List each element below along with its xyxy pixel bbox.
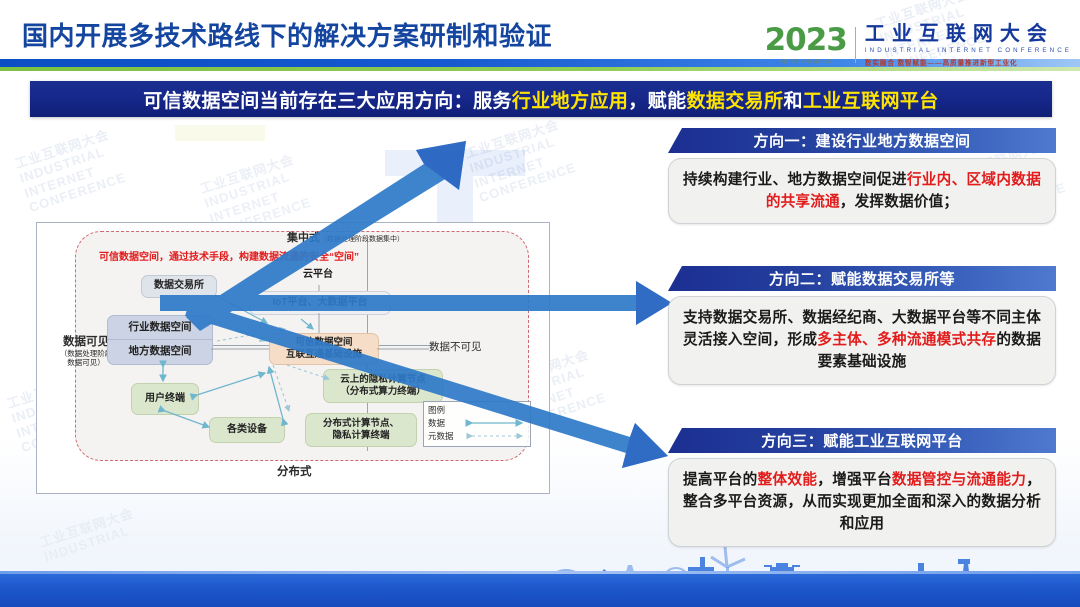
logo-year-block: 2023 中国·苏州 9月14日-18日 xyxy=(765,25,855,65)
direction-2-title: 方向二：赋能数据交易所等 xyxy=(668,266,1056,291)
diagram-connectors xyxy=(37,223,549,493)
direction-1-text: 持续构建行业、地方数据空间促进行业内、区域内数据的共享流通，发挥数据价值； xyxy=(683,169,1041,213)
logo-cn-name: 工业互联网大会 xyxy=(865,24,1072,44)
direction-2-body: 支持数据交易所、数据经纪商、大数据平台等不同主体灵活接入空间，形成多主体、多种流… xyxy=(668,296,1056,385)
direction-2-text: 支持数据交易所、数据经纪商、大数据平台等不同主体灵活接入空间，形成多主体、多种流… xyxy=(683,307,1041,374)
headline-part1: 可信数据空间当前存在三大应用方向：服务 xyxy=(143,91,512,112)
headline-part2: ，赋能 xyxy=(628,91,686,112)
logo-slogan: 数实融合 数智赋能——高质量推进新型工业化 xyxy=(865,57,1072,67)
architecture-diagram: 集中式（数据处理阶段数据集中） 可信数据空间，通过技术手段，构建数据流通的安全“… xyxy=(36,222,550,494)
direction-1-run-2: ，发挥数据价值； xyxy=(840,194,958,210)
direction-3-text: 提高平台的整体效能，增强平台数据管控与流通能力，整合多平台资源，从而实现更加全面… xyxy=(683,469,1041,536)
direction-1-body: 持续构建行业、地方数据空间促进行业内、区域内数据的共享流通，发挥数据价值； xyxy=(668,158,1056,224)
headline-highlight-3: 工业互联网平台 xyxy=(803,91,939,112)
conference-logo: 2023 中国·苏州 9月14日-18日 工业互联网大会 INDUSTRIAL … xyxy=(765,22,1072,68)
footer-skyline xyxy=(0,541,1080,607)
logo-en-name: INDUSTRIAL INTERNET CONFERENCE xyxy=(865,47,1072,54)
direction-3-run-1: 整体效能 xyxy=(758,472,818,488)
footer-blue-band xyxy=(0,571,1080,607)
direction-3-run-2: ，增强平台 xyxy=(817,472,892,488)
headline-highlight-2: 数据交易所 xyxy=(686,91,783,112)
direction-panel-2: 方向二：赋能数据交易所等 支持数据交易所、数据经纪商、大数据平台等不同主体灵活接… xyxy=(668,266,1056,385)
direction-3-body: 提高平台的整体效能，增强平台数据管控与流通能力，整合多平台资源，从而实现更加全面… xyxy=(668,458,1056,547)
direction-panel-3: 方向三：赋能工业互联网平台 提高平台的整体效能，增强平台数据管控与流通能力，整合… xyxy=(668,428,1056,547)
headline-part3: 和 xyxy=(784,91,803,112)
direction-3-run-0: 提高平台的 xyxy=(683,472,758,488)
headline-bar: 可信数据空间当前存在三大应用方向：服务行业地方应用，赋能数据交易所和工业互联网平… xyxy=(30,81,1052,117)
direction-2-run-1: 多主体、多种流通模式共存 xyxy=(817,332,996,348)
diagram-inner: 集中式（数据处理阶段数据集中） 可信数据空间，通过技术手段，构建数据流通的安全“… xyxy=(37,223,549,493)
slide-canvas: 工业互联网大会 INDUSTRIAL INTERNET CONFERENCE 工… xyxy=(0,0,1080,607)
page-title: 国内开展多技术路线下的解决方案研制和验证 xyxy=(22,16,552,53)
headline-text: 可信数据空间当前存在三大应用方向：服务行业地方应用，赋能数据交易所和工业互联网平… xyxy=(143,86,938,113)
logo-year-sub: 中国·苏州 9月14日-18日 xyxy=(779,59,833,65)
direction-3-run-3: 数据管控与流通能力 xyxy=(892,472,1026,488)
direction-1-title: 方向一：建设行业地方数据空间 xyxy=(668,128,1056,153)
logo-year: 2023 xyxy=(765,25,847,56)
direction-3-title: 方向三：赋能工业互联网平台 xyxy=(668,428,1056,453)
legend-swatches-icon xyxy=(424,402,530,446)
headline-highlight-1: 行业地方应用 xyxy=(512,91,628,112)
logo-name-block: 工业互联网大会 INDUSTRIAL INTERNET CONFERENCE 数… xyxy=(856,24,1072,67)
diagram-legend: 图例 数据 元数据 xyxy=(423,401,531,447)
direction-1-run-0: 持续构建行业、地方数据空间促进 xyxy=(683,172,907,188)
direction-panel-1: 方向一：建设行业地方数据空间 持续构建行业、地方数据空间促进行业内、区域内数据的… xyxy=(668,128,1056,224)
